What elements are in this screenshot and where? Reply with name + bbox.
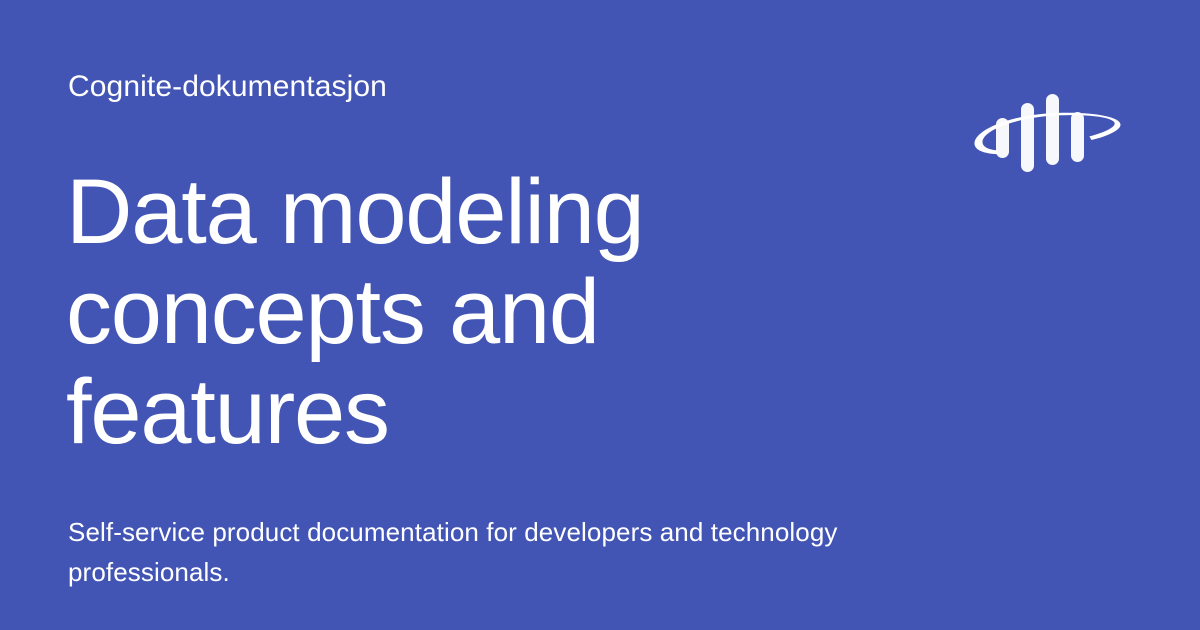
page-subtitle: Self-service product documentation for d… — [68, 512, 888, 592]
cognite-logo — [968, 86, 1136, 178]
og-card: Cognite-dokumentasjon Data modeling conc… — [0, 0, 1200, 630]
logo-bars — [996, 94, 1084, 172]
page-title: Data modeling concepts and features — [66, 162, 766, 462]
logo-bar-4 — [1071, 112, 1084, 162]
logo-bar-2 — [1021, 103, 1034, 172]
site-label: Cognite-dokumentasjon — [68, 68, 387, 106]
logo-bar-3 — [1046, 94, 1059, 165]
